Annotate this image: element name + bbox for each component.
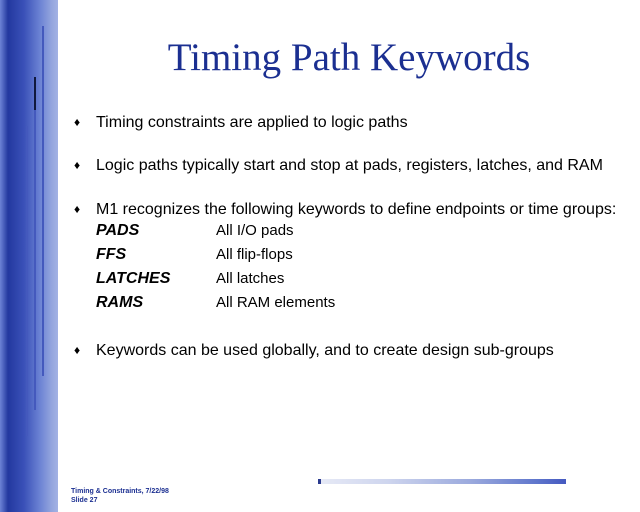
- keyword-term-pads: PADS: [96, 222, 216, 240]
- keyword-definition-pads: All I/O pads: [216, 222, 630, 239]
- footer-line-slide-number: Slide 27: [71, 496, 169, 505]
- footer-rule-cap: [318, 479, 321, 484]
- slide-footer: Timing & Constraints, 7/22/98 Slide 27: [71, 487, 169, 505]
- slide-body: ♦ Timing constraints are applied to logi…: [70, 112, 630, 377]
- slide-title: Timing Path Keywords: [58, 36, 640, 80]
- bullet-item-1: ♦ Timing constraints are applied to logi…: [70, 112, 630, 133]
- keyword-term-latches: LATCHES: [96, 270, 216, 288]
- diamond-bullet-icon: ♦: [70, 155, 96, 176]
- keyword-row: PADS All I/O pads: [96, 222, 630, 246]
- decorative-side-band: [0, 0, 58, 512]
- bullet-item-1-text: Timing constraints are applied to logic …: [96, 112, 630, 133]
- keyword-row: RAMS All RAM elements: [96, 294, 630, 318]
- keyword-definition-ffs: All flip-flops: [216, 246, 630, 263]
- diamond-bullet-icon: ♦: [70, 340, 96, 361]
- bullet-item-2-text: Logic paths typically start and stop at …: [96, 155, 630, 176]
- bullet-item-4: ♦ Keywords can be used globally, and to …: [70, 340, 630, 361]
- keyword-definition-list: PADS All I/O pads FFS All flip-flops LAT…: [96, 222, 630, 318]
- keyword-row: FFS All flip-flops: [96, 246, 630, 270]
- bullet-item-3: ♦ M1 recognizes the following keywords t…: [70, 199, 630, 220]
- keyword-definition-latches: All latches: [216, 270, 630, 287]
- keyword-row: LATCHES All latches: [96, 270, 630, 294]
- slide-canvas: Timing Path Keywords ♦ Timing constraint…: [0, 0, 640, 512]
- footer-rule: [318, 479, 566, 484]
- bullet-item-4-text: Keywords can be used globally, and to cr…: [96, 340, 630, 361]
- bullet-item-2: ♦ Logic paths typically start and stop a…: [70, 155, 630, 176]
- bullet-item-3-text: M1 recognizes the following keywords to …: [96, 199, 630, 220]
- band-accent-line-dark: [34, 77, 36, 110]
- keyword-term-rams: RAMS: [96, 294, 216, 312]
- diamond-bullet-icon: ♦: [70, 112, 96, 133]
- keyword-term-ffs: FFS: [96, 246, 216, 264]
- keyword-definition-rams: All RAM elements: [216, 294, 630, 311]
- band-accent-line-3: [26, 126, 28, 436]
- band-accent-line-1: [42, 26, 44, 376]
- diamond-bullet-icon: ♦: [70, 199, 96, 220]
- band-accent-line-2: [34, 110, 36, 410]
- footer-line-deck-title: Timing & Constraints, 7/22/98: [71, 487, 169, 496]
